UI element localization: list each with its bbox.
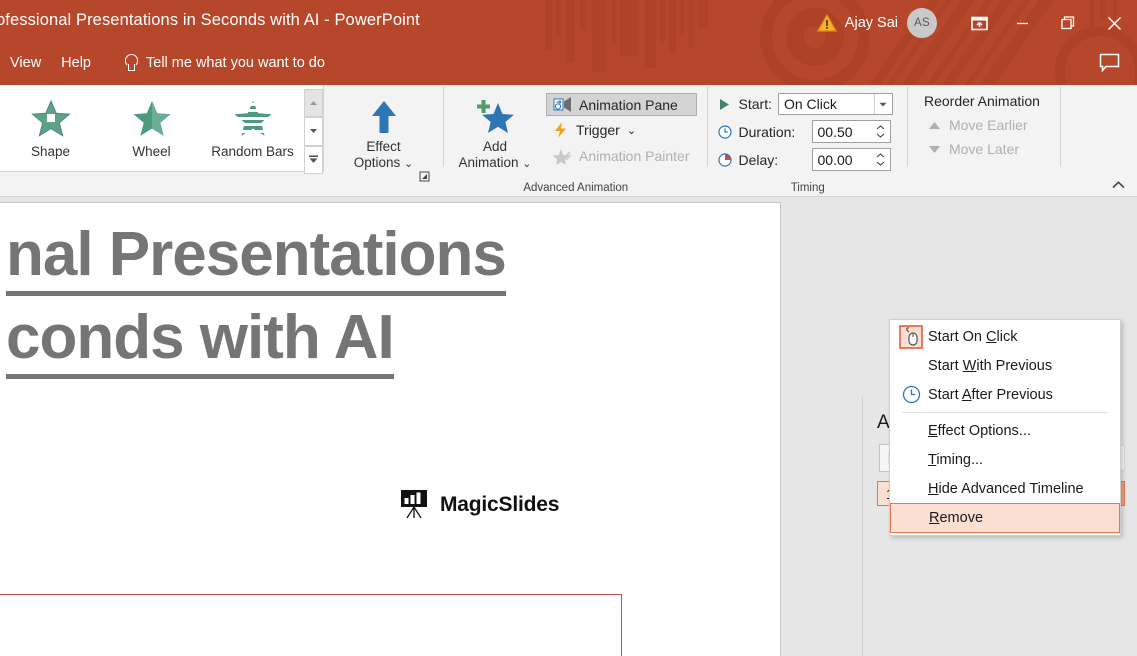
add-animation-label-line1: Add: [483, 139, 507, 154]
dialog-launcher-icon[interactable]: [417, 169, 431, 183]
move-earlier-button: Move Earlier: [920, 115, 1044, 135]
comment-icon[interactable]: [1089, 47, 1129, 79]
context-menu-bottom-padding: [890, 533, 1120, 535]
slide-title-line1: nal Presentations: [6, 220, 506, 296]
ribbon-group-advanced-animation: Add Animation ⌄: [444, 85, 708, 177]
timing-controls: Start: On Click Duration:: [708, 85, 893, 171]
context-menu-label: Remove: [929, 510, 983, 526]
start-combo[interactable]: On Click: [778, 93, 893, 115]
lightbulb-icon: [123, 54, 138, 73]
context-menu-item-start-with-previous[interactable]: Start With Previous: [890, 351, 1120, 380]
maximize-restore-button[interactable]: [1045, 0, 1091, 46]
random-bars-star-icon: [232, 97, 274, 139]
clock-icon: [894, 385, 928, 404]
context-menu-label: Hide Advanced Timeline: [928, 481, 1084, 497]
play-triangle-icon: [718, 98, 733, 111]
tell-me-search[interactable]: Tell me what you want to do: [123, 54, 325, 73]
chevron-down-icon[interactable]: [874, 94, 892, 114]
move-earlier-label: Move Earlier: [949, 117, 1028, 133]
effect-options-label-line2: Options: [354, 155, 401, 170]
slide-title-text[interactable]: nal Presentations conds with AI: [0, 213, 780, 379]
gallery-item-label: Shape: [31, 144, 70, 159]
collapse-ribbon-icon[interactable]: [1107, 176, 1129, 194]
add-animation-button[interactable]: Add Animation ⌄: [450, 93, 540, 172]
ribbon-group-reorder: Reorder Animation Move Earlier Move Late…: [908, 85, 1061, 177]
move-later-label: Move Later: [949, 141, 1019, 157]
move-later-button: Move Later: [920, 139, 1044, 159]
ribbon-group-animation: Shape Wheel: [0, 85, 444, 177]
start-label: Start:: [739, 96, 772, 112]
delay-label: Delay:: [739, 152, 806, 168]
timing-duration-row: Duration: 00.50: [718, 120, 893, 143]
minimize-button[interactable]: [999, 0, 1045, 46]
close-button[interactable]: [1091, 0, 1137, 46]
chevron-down-icon: ⌄: [627, 124, 636, 137]
context-menu-label: Start After Previous: [928, 387, 1053, 403]
ribbon-display-options-button[interactable]: [959, 7, 999, 39]
gallery-item-shape[interactable]: Shape: [0, 89, 101, 159]
magicslides-logo-text: MagicSlides: [440, 493, 559, 517]
context-menu-label: Effect Options...: [928, 423, 1031, 439]
duration-label: Duration:: [739, 124, 806, 140]
animation-gallery: Shape Wheel: [0, 85, 324, 172]
context-menu-item-hide-advanced-timeline[interactable]: Hide Advanced Timeline: [890, 474, 1120, 503]
effect-options-button[interactable]: Effect Options ⌄: [342, 93, 425, 172]
mouse-click-icon: [894, 324, 928, 350]
context-menu-item-remove[interactable]: Remove: [890, 503, 1120, 533]
title-bar: ofessional Presentations in Seconds with…: [0, 0, 1137, 85]
advanced-animation-buttons: Animation Pane Trigger ⌄ Animation Pai: [540, 85, 697, 167]
animation-painter-label: Animation Painter: [579, 148, 690, 164]
gallery-item-random-bars[interactable]: Random Bars: [202, 89, 303, 159]
animation-pane-icon: [553, 96, 572, 113]
group-label-advanced-animation: Advanced Animation: [444, 182, 708, 194]
ribbon: Shape Wheel: [0, 85, 1137, 197]
context-menu-label: Start With Previous: [928, 358, 1052, 374]
trigger-button[interactable]: Trigger ⌄: [546, 118, 697, 142]
warning-triangle-icon[interactable]: [817, 14, 837, 32]
reorder-controls: Reorder Animation Move Earlier Move Late…: [908, 85, 1044, 159]
delay-clock-icon: [718, 153, 733, 167]
up-arrow-icon: [367, 99, 401, 135]
titlebar-right-controls: Ajay Sai AS: [817, 0, 1137, 46]
gallery-item-label: Random Bars: [211, 144, 294, 159]
lightning-bolt-icon: [553, 121, 569, 139]
trigger-label: Trigger: [576, 122, 620, 138]
context-menu-label: Timing...: [928, 452, 983, 468]
document-title: ofessional Presentations in Seconds with…: [0, 11, 420, 30]
move-up-icon: [928, 121, 941, 130]
add-animation-star-icon: [473, 99, 517, 135]
context-menu-item-start-on-click[interactable]: Start On Click: [890, 322, 1120, 351]
slide-canvas[interactable]: MagicSlides nal Presentations conds with…: [0, 202, 781, 656]
reorder-animation-title: Reorder Animation: [920, 91, 1044, 111]
clock-icon: [718, 125, 733, 139]
magicslides-logo: MagicSlides: [399, 489, 559, 520]
animation-painter-icon: [553, 147, 572, 164]
magicslides-easel-icon: [399, 489, 429, 520]
animation-pane-label: Animation Pane: [579, 97, 678, 113]
delay-spinner[interactable]: 00.00: [812, 148, 891, 171]
chevron-down-icon: ⌄: [522, 158, 531, 170]
delay-value: 00.00: [818, 152, 853, 168]
gallery-item-label: Wheel: [132, 144, 170, 159]
animation-pane-button[interactable]: Animation Pane: [546, 93, 697, 116]
menu-bar: View Help Tell me what you want to do: [0, 48, 325, 78]
menu-item-view[interactable]: View: [0, 52, 51, 74]
context-menu-item-timing[interactable]: Timing...: [890, 445, 1120, 474]
gallery-item-wheel[interactable]: Wheel: [101, 89, 202, 159]
spinner-arrows-icon[interactable]: [874, 149, 888, 170]
menu-item-help[interactable]: Help: [51, 52, 101, 74]
spinner-arrows-icon[interactable]: [874, 121, 888, 142]
gallery-scroll-up-button[interactable]: [304, 89, 323, 117]
wheel-star-icon: [131, 97, 173, 139]
slide-title-line2: conds with AI: [6, 303, 394, 379]
animation-painter-button: Animation Painter: [546, 144, 697, 167]
avatar[interactable]: AS: [907, 8, 937, 38]
gallery-scroll-down-button[interactable]: [304, 117, 323, 145]
duration-spinner[interactable]: 00.50: [812, 120, 891, 143]
title-placeholder-selection[interactable]: [0, 594, 622, 656]
context-menu-separator: [902, 412, 1108, 413]
chevron-down-icon: ⌄: [404, 158, 413, 170]
start-value: On Click: [784, 96, 837, 112]
add-animation-label-line2: Animation: [458, 155, 518, 170]
context-menu-label: Start On Click: [928, 329, 1017, 345]
ribbon-group-timing: Start: On Click Duration:: [708, 85, 908, 177]
move-down-icon: [928, 145, 941, 154]
timing-delay-row: Delay: 00.00: [718, 148, 893, 171]
context-menu-item-effect-options[interactable]: Effect Options...: [890, 416, 1120, 445]
user-name[interactable]: Ajay Sai: [845, 15, 898, 31]
context-menu-item-start-after-previous[interactable]: Start After Previous: [890, 380, 1120, 409]
tell-me-label: Tell me what you want to do: [146, 55, 325, 71]
effect-options-label-line1: Effect: [366, 139, 400, 154]
gallery-more-button[interactable]: [304, 146, 323, 174]
animation-context-menu: Start On Click Start With Previous Start…: [889, 319, 1121, 536]
shape-star-icon: [30, 97, 72, 139]
gallery-scrollbar[interactable]: [304, 89, 323, 174]
group-label-timing: Timing: [708, 182, 908, 194]
duration-value: 00.50: [818, 124, 853, 140]
timing-start-row: Start: On Click: [718, 93, 893, 115]
